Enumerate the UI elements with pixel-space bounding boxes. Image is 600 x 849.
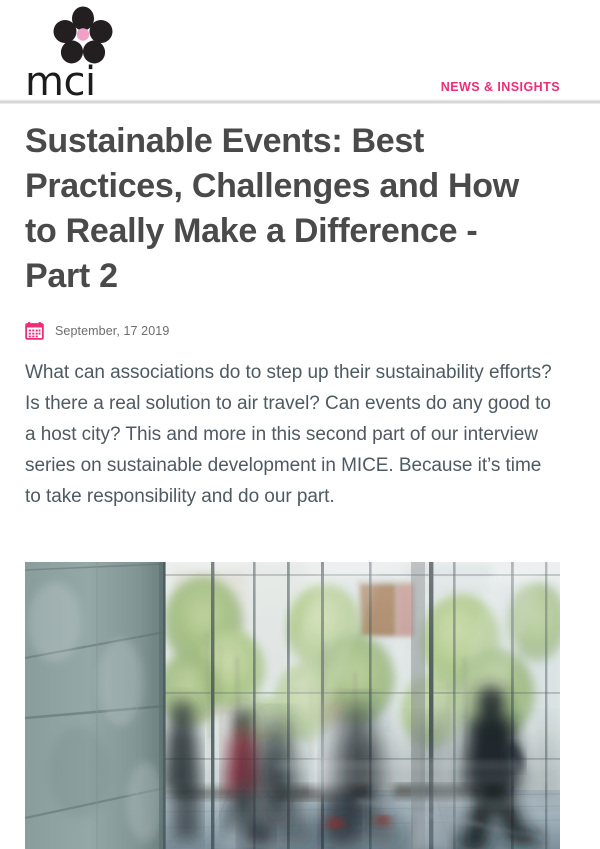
- article-lead-paragraph: What can associations do to step up thei…: [25, 357, 553, 512]
- mci-flower-logo-icon: [53, 6, 113, 66]
- site-header: mci NEWS & INSIGHTS: [0, 0, 600, 104]
- article-body: Sustainable Events: Best Practices, Chal…: [0, 119, 600, 512]
- article-meta: September, 17 2019: [25, 321, 575, 340]
- calendar-icon: [25, 321, 44, 340]
- header-nav: NEWS & INSIGHTS: [441, 78, 560, 96]
- header-divider: [0, 99, 600, 104]
- article-page: mci NEWS & INSIGHTS Sustainable Events: …: [0, 0, 600, 849]
- hero-figure: [25, 562, 560, 849]
- article-title: Sustainable Events: Best Practices, Chal…: [25, 119, 550, 299]
- mci-logo-link[interactable]: mci: [25, 4, 135, 96]
- hero-photo: [25, 562, 560, 849]
- article-date: September, 17 2019: [55, 324, 169, 338]
- nav-link-news-and-insights[interactable]: NEWS & INSIGHTS: [441, 80, 560, 94]
- mci-wordmark: mci: [25, 62, 96, 102]
